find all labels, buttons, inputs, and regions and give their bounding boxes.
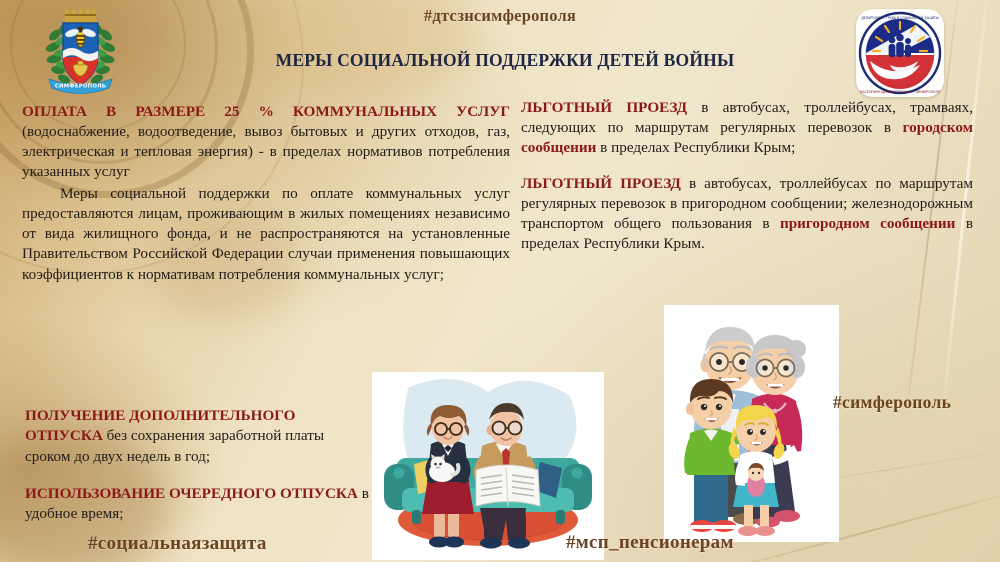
benefit-utilities-note: Меры социальной поддержки по оплате комм… <box>22 184 510 284</box>
illustration-family <box>664 305 839 542</box>
hashtag-top: #дтсзнсимферополя <box>0 6 1000 26</box>
benefit-suburban-transport-emphasis: пригородном сообщении <box>780 215 955 232</box>
paragraph-spacer <box>25 467 370 484</box>
benefit-city-transport-heading: ЛЬГОТНЫЙ ПРОЕЗД <box>521 99 687 116</box>
right-text-column: ЛЬГОТНЫЙ ПРОЕЗД в автобусах, троллейбуса… <box>521 98 973 256</box>
benefit-utilities-heading: ОПЛАТА В РАЗМЕРЕ 25 % КОММУНАЛЬНЫХ УСЛУГ <box>22 103 510 120</box>
benefit-suburban-transport-heading: ЛЬГОТНЫЙ ПРОЕЗД <box>521 175 681 192</box>
left-text-column: ОПЛАТА В РАЗМЕРЕ 25 % КОММУНАЛЬНЫХ УСЛУГ… <box>22 102 510 287</box>
hashtag-social: #социальнаязащита <box>88 533 267 555</box>
hashtag-msp: #мсп_пенсионерам <box>566 532 734 554</box>
svg-text:СИМФЕРОПОЛЬ: СИМФЕРОПОЛЬ <box>55 83 106 89</box>
benefit-utilities-paragraph: ОПЛАТА В РАЗМЕРЕ 25 % КОММУНАЛЬНЫХ УСЛУГ… <box>22 102 510 182</box>
svg-text:НАСЕЛЕНИЯ АДМИНИСТРАЦИИ Г. СИМ: НАСЕЛЕНИЯ АДМИНИСТРАЦИИ Г. СИМФЕРОПОЛЯ <box>860 90 940 94</box>
benefit-annual-leave-heading: ИСПОЛЬЗОВАНИЕ ОЧЕРЕДНОГО ОТПУСКА <box>25 485 358 502</box>
poster-canvas: СИМФЕРОПОЛЬ <box>0 0 1000 562</box>
paragraph-spacer <box>521 160 973 174</box>
benefit-city-transport-paragraph: ЛЬГОТНЫЙ ПРОЕЗД в автобусах, троллейбуса… <box>521 98 973 158</box>
hashtag-simferopol: #симферополь <box>833 392 951 413</box>
benefit-annual-leave-paragraph: ИСПОЛЬЗОВАНИЕ ОЧЕРЕДНОГО ОТПУСКА в удобн… <box>25 484 370 525</box>
leave-benefits-block: ПОЛУЧЕНИЕ ДОПОЛНИТЕЛЬНОГО ОТПУСКА без со… <box>25 406 370 525</box>
page-title: МЕРЫ СОЦИАЛЬНОЙ ПОДДЕРЖКИ ДЕТЕЙ ВОЙНЫ <box>110 50 900 71</box>
benefit-extra-leave-paragraph: ПОЛУЧЕНИЕ ДОПОЛНИТЕЛЬНОГО ОТПУСКА без со… <box>25 406 370 467</box>
benefit-suburban-transport-paragraph: ЛЬГОТНЫЙ ПРОЕЗД в автобусах, троллейбуса… <box>521 174 973 254</box>
benefit-utilities-body: (водоснабжение, водоотведение, вывоз быт… <box>22 123 510 180</box>
benefit-city-transport-body-b: в пределах Республики Крым; <box>596 139 795 156</box>
